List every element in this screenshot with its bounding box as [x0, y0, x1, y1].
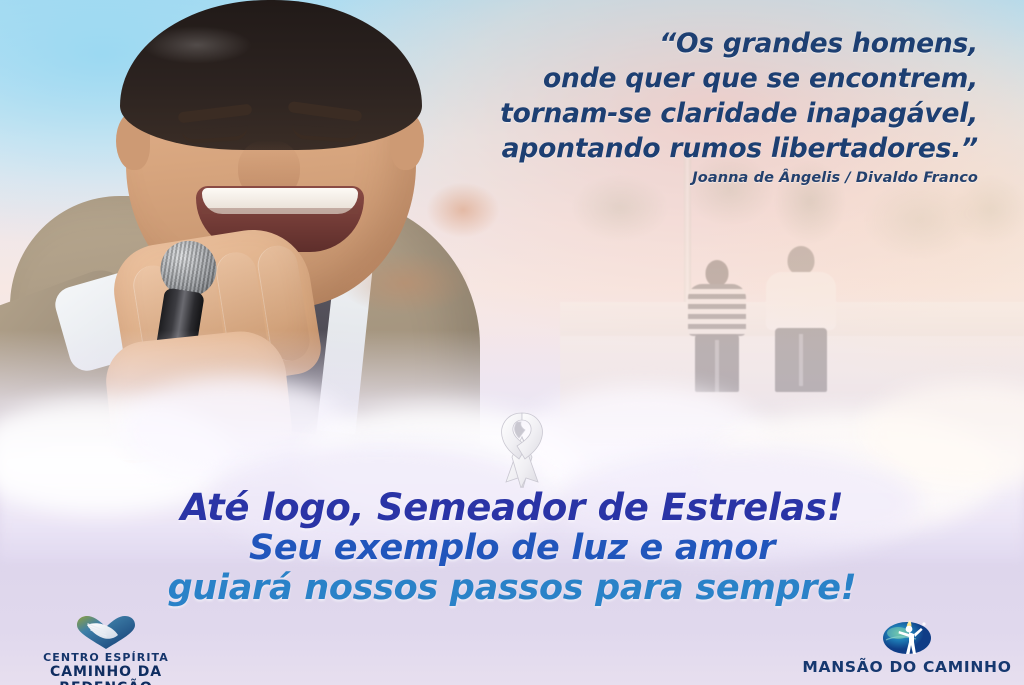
quote-attribution: Joanna de Ângelis / Divaldo Franco: [378, 170, 978, 186]
portrait-hair: [120, 0, 422, 150]
quote-line-1: “Os grandes homens,: [378, 26, 978, 61]
farewell-message: Até logo, Semeador de Estrelas! Seu exem…: [0, 487, 1024, 608]
heart-hands-icon: [75, 616, 137, 650]
logo-mansao-do-caminho: MANSÃO DO CAMINHO: [800, 612, 1014, 676]
quote-line-3: tornam-se claridade inapagável,: [378, 96, 978, 131]
logo-centro-espirita: CENTRO ESPÍRITA CAMINHO DA REDENÇÃO: [8, 616, 204, 685]
memorial-poster: “Os grandes homens, onde quer que se enc…: [0, 0, 1024, 685]
quote-line-2: onde quer que se encontrem,: [378, 61, 978, 96]
farewell-line-2: Seu exemplo de luz e amor: [0, 529, 1024, 568]
ghost-figure-man: [765, 246, 837, 392]
background-ghost-photo: [560, 150, 1024, 440]
quote-text: “Os grandes homens, onde quer que se enc…: [378, 26, 978, 166]
logo-left-line-2: CAMINHO DA REDENÇÃO: [8, 664, 204, 685]
farewell-line-3: guiará nossos passos para sempre!: [0, 568, 1024, 608]
farewell-line-1: Até logo, Semeador de Estrelas!: [0, 487, 1024, 529]
globe-figure-flame-icon: [876, 612, 938, 656]
portrait-cloud-fade: [0, 330, 560, 460]
logo-left-line-1: CENTRO ESPÍRITA: [8, 651, 204, 664]
mourning-ribbon-icon: [487, 410, 557, 488]
logo-right-line-1: MANSÃO DO CAMINHO: [800, 658, 1014, 676]
ghost-figure-child: [688, 260, 746, 392]
quote-line-4: apontando rumos libertadores.”: [378, 131, 978, 166]
